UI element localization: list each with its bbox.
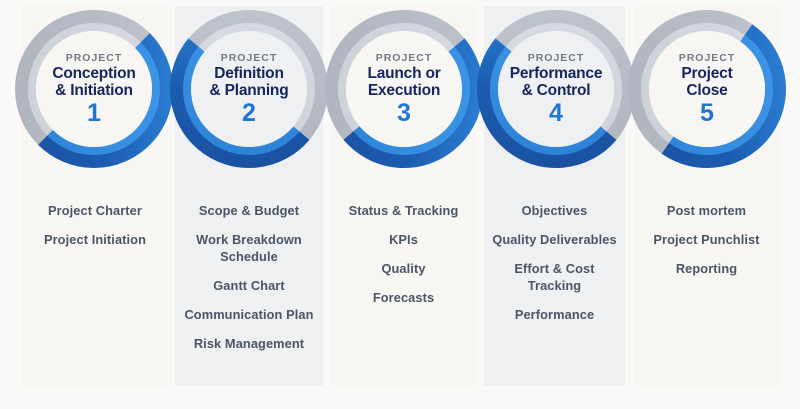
list-item: Risk Management: [181, 335, 317, 352]
phase-title: Project Close: [681, 65, 732, 99]
phase-circle-5[interactable]: PROJECT Project Close 5: [626, 8, 788, 170]
list-item: Project Punchlist: [640, 231, 773, 248]
deliverables-list-4: Objectives Quality Deliverables Effort &…: [484, 202, 625, 323]
phase-eyebrow: PROJECT: [528, 52, 585, 64]
phase-title: Launch or Execution: [367, 65, 440, 99]
phase-circle-4[interactable]: PROJECT Performance & Control 4: [475, 8, 637, 170]
phase-number: 2: [242, 100, 256, 126]
list-item: Communication Plan: [181, 306, 317, 323]
phase-title: Performance & Control: [510, 65, 603, 99]
phase-hub-5: PROJECT Project Close 5: [649, 31, 765, 147]
phase-hub-4: PROJECT Performance & Control 4: [498, 31, 614, 147]
deliverables-list-1: Project Charter Project Initiation: [22, 202, 168, 248]
phase-number: 4: [549, 100, 563, 126]
list-item: Reporting: [640, 260, 773, 277]
phase-circle-1[interactable]: PROJECT Conception & Initiation 1: [13, 8, 175, 170]
list-item: Status & Tracking: [336, 202, 471, 219]
phase-circle-3[interactable]: PROJECT Launch or Execution 3: [323, 8, 485, 170]
phase-eyebrow: PROJECT: [66, 52, 123, 64]
phase-eyebrow: PROJECT: [221, 52, 278, 64]
phase-number: 3: [397, 100, 411, 126]
phase-number: 1: [87, 100, 101, 126]
phase-title: Conception & Initiation: [52, 65, 135, 99]
list-item: Objectives: [490, 202, 619, 219]
list-item: Project Charter: [28, 202, 162, 219]
list-item: KPIs: [336, 231, 471, 248]
phase-hub-3: PROJECT Launch or Execution 3: [346, 31, 462, 147]
phase-hub-1: PROJECT Conception & Initiation 1: [36, 31, 152, 147]
phase-eyebrow: PROJECT: [376, 52, 433, 64]
list-item: Scope & Budget: [181, 202, 317, 219]
deliverables-list-5: Post mortem Project Punchlist Reporting: [634, 202, 779, 277]
phase-hub-2: PROJECT Definition & Planning 2: [191, 31, 307, 147]
list-item: Post mortem: [640, 202, 773, 219]
list-item: Project Initiation: [28, 231, 162, 248]
list-item: Quality: [336, 260, 471, 277]
phase-number: 5: [700, 100, 714, 126]
phase-eyebrow: PROJECT: [679, 52, 736, 64]
list-item: Work Breakdown Schedule: [181, 231, 317, 265]
list-item: Forecasts: [336, 289, 471, 306]
deliverables-list-2: Scope & Budget Work Breakdown Schedule G…: [175, 202, 323, 352]
list-item: Quality Deliverables: [490, 231, 619, 248]
phase-circle-2[interactable]: PROJECT Definition & Planning 2: [168, 8, 330, 170]
list-item: Gantt Chart: [181, 277, 317, 294]
deliverables-list-3: Status & Tracking KPIs Quality Forecasts: [330, 202, 477, 306]
phase-title: Definition & Planning: [210, 65, 289, 99]
list-item: Effort & Cost Tracking: [490, 260, 619, 294]
process-diagram: Project Charter Project Initiation Scope…: [0, 0, 800, 409]
list-item: Performance: [490, 306, 619, 323]
